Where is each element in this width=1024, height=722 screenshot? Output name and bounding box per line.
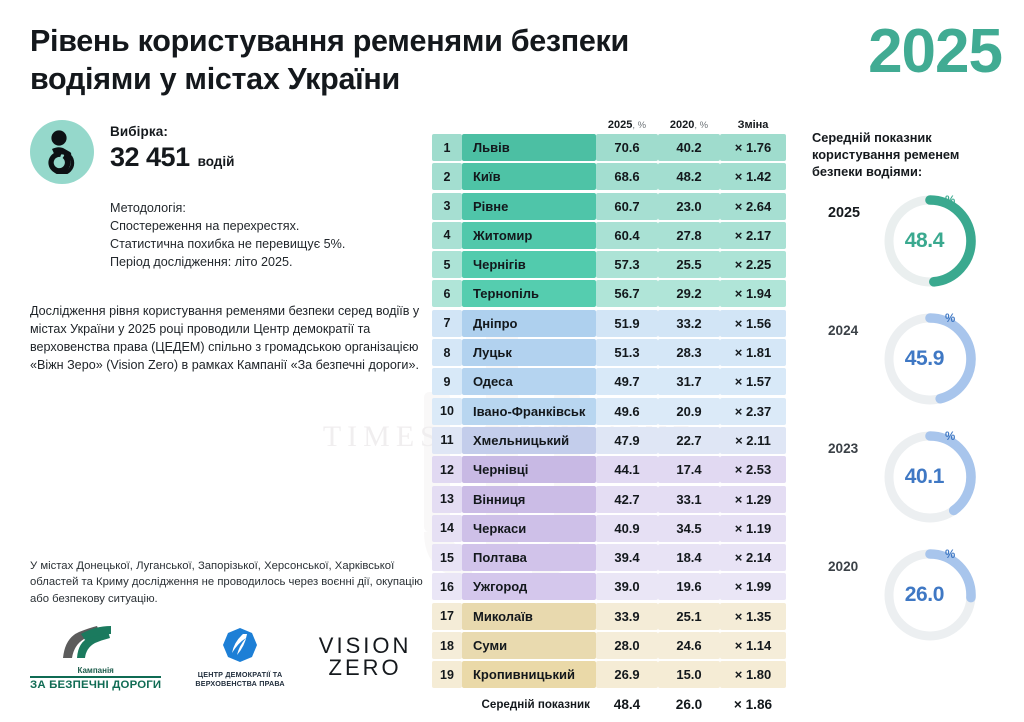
table-row[interactable]: 8Луцьк51.328.3× 1.81 (432, 339, 790, 366)
row-2020: 28.3 (658, 339, 720, 366)
row-change: × 2.11 (720, 427, 786, 454)
row-city: Тернопіль (462, 280, 596, 307)
row-change: × 1.19 (720, 515, 786, 542)
table-body: 1Львів70.640.2× 1.762Київ68.648.2× 1.423… (432, 134, 790, 688)
row-2025: 40.9 (596, 515, 658, 542)
row-change: × 1.56 (720, 310, 786, 337)
row-2025: 44.1 (596, 456, 658, 483)
donut-percent-symbol: % (945, 313, 955, 325)
row-change: × 1.76 (720, 134, 786, 161)
donut-percent-symbol: % (945, 195, 955, 207)
table-row[interactable]: 6Тернопіль56.729.2× 1.94 (432, 280, 790, 307)
donut-2024: 202445.9% (812, 299, 1012, 417)
infographic-page: TIMES OF UKRAINE Рівень користування рем… (0, 0, 1024, 722)
row-city: Хмельницький (462, 427, 596, 454)
row-2025: 33.9 (596, 603, 658, 630)
row-city: Миколаїв (462, 603, 596, 630)
sample-block: Вибірка: 32 451 водій (30, 120, 420, 184)
table-row[interactable]: 14Черкаси40.934.5× 1.19 (432, 515, 790, 542)
row-rank: 1 (432, 134, 462, 161)
row-2020: 33.2 (658, 310, 720, 337)
cedem-logo-line2: ВЕРХОВЕНСТВА ПРАВА (195, 679, 284, 688)
row-2025: 26.9 (596, 661, 658, 688)
cedem-logo-line1: ЦЕНТР ДЕМОКРАТІЇ ТА (195, 670, 284, 679)
cedem-logo: ЦЕНТР ДЕМОКРАТІЇ ТА ВЕРХОВЕНСТВА ПРАВА (195, 626, 284, 689)
row-rank: 9 (432, 368, 462, 395)
row-2025: 60.4 (596, 222, 658, 249)
row-city: Чернігів (462, 251, 596, 278)
donut-2025: 202548.4% (812, 181, 1012, 299)
row-rank: 2 (432, 163, 462, 190)
row-change: × 1.35 (720, 603, 786, 630)
row-2025: 49.6 (596, 398, 658, 425)
row-2020: 48.2 (658, 163, 720, 190)
row-2020: 27.8 (658, 222, 720, 249)
row-2020: 22.7 (658, 427, 720, 454)
row-2020: 20.9 (658, 398, 720, 425)
row-rank: 11 (432, 427, 462, 454)
donut-value-label: 40.1% (878, 425, 982, 529)
donut-year-label: 2024 (828, 323, 858, 338)
table-row[interactable]: 9Одеса49.731.7× 1.57 (432, 368, 790, 395)
th-2020: 2020, % (658, 119, 720, 131)
th-2025: 2025, % (596, 119, 658, 131)
total-change: × 1.86 (720, 691, 786, 717)
table-total-row: Середній показник 48.4 26.0 × 1.86 (432, 691, 790, 717)
table-row[interactable]: 11Хмельницький47.922.7× 2.11 (432, 427, 790, 454)
row-change: × 1.99 (720, 573, 786, 600)
total-2025: 48.4 (596, 691, 658, 717)
donut-percent-symbol: % (945, 431, 955, 443)
row-change: × 1.14 (720, 632, 786, 659)
donut-list: 202548.4%202445.9%202340.1%202026.0% (812, 181, 1012, 653)
row-2025: 70.6 (596, 134, 658, 161)
row-city: Чернівці (462, 456, 596, 483)
row-city: Луцьк (462, 339, 596, 366)
row-2020: 34.5 (658, 515, 720, 542)
row-rank: 4 (432, 222, 462, 249)
row-rank: 10 (432, 398, 462, 425)
row-2025: 39.4 (596, 544, 658, 571)
row-rank: 16 (432, 573, 462, 600)
vision-zero-logo: VISION ZERO (319, 635, 412, 678)
za-bezpechni-dorohy-line2: ЗА БЕЗПЕЧНІ ДОРОГИ (30, 676, 161, 691)
row-change: × 2.25 (720, 251, 786, 278)
donut-2020: 202026.0% (812, 535, 1012, 653)
donut-value-label: 48.4% (878, 189, 982, 293)
row-2025: 49.7 (596, 368, 658, 395)
table-row[interactable]: 1Львів70.640.2× 1.76 (432, 134, 790, 161)
driver-seatbelt-icon (30, 120, 94, 184)
table-row[interactable]: 19Кропивницький26.915.0× 1.80 (432, 661, 790, 688)
row-2025: 51.9 (596, 310, 658, 337)
table-row[interactable]: 5Чернігів57.325.5× 2.25 (432, 251, 790, 278)
table-header-row: 2025, % 2020, % Зміна (432, 112, 790, 134)
row-change: × 2.14 (720, 544, 786, 571)
row-change: × 1.81 (720, 339, 786, 366)
methodology-line-1: Спостереження на перехрестях. (110, 218, 420, 236)
row-2025: 39.0 (596, 573, 658, 600)
row-change: × 1.57 (720, 368, 786, 395)
table-row[interactable]: 18Суми28.024.6× 1.14 (432, 632, 790, 659)
row-2020: 19.6 (658, 573, 720, 600)
row-2020: 18.4 (658, 544, 720, 571)
sample-text: Вибірка: 32 451 водій (110, 120, 234, 173)
row-city: Одеса (462, 368, 596, 395)
total-rank (432, 691, 462, 717)
row-2020: 40.2 (658, 134, 720, 161)
row-2020: 23.0 (658, 193, 720, 220)
methodology-block: Методологія: Спостереження на перехрестя… (110, 200, 420, 272)
row-city: Ужгород (462, 573, 596, 600)
vision-zero-line1: VISION (319, 635, 412, 657)
donut-year-label: 2025 (828, 205, 860, 221)
row-city: Київ (462, 163, 596, 190)
row-city: Дніпро (462, 310, 596, 337)
row-change: × 2.64 (720, 193, 786, 220)
row-rank: 13 (432, 486, 462, 513)
average-panel-title: Середній показник користування ременем б… (812, 130, 1012, 181)
row-2020: 29.2 (658, 280, 720, 307)
methodology-heading: Методологія: (110, 200, 420, 218)
row-2020: 31.7 (658, 368, 720, 395)
donut-ring: 40.1% (878, 425, 982, 529)
table-row[interactable]: 16Ужгород39.019.6× 1.99 (432, 573, 790, 600)
donut-value: 40.1 (905, 465, 944, 489)
cedem-logo-text: ЦЕНТР ДЕМОКРАТІЇ ТА ВЕРХОВЕНСТВА ПРАВА (195, 670, 284, 689)
row-change: × 2.37 (720, 398, 786, 425)
left-column: Вибірка: 32 451 водій Методологія: Спост… (30, 120, 420, 375)
methodology-line-3: Період дослідження: літо 2025. (110, 254, 420, 272)
sample-label: Вибірка: (110, 124, 234, 139)
row-rank: 19 (432, 661, 462, 688)
row-2020: 25.1 (658, 603, 720, 630)
row-rank: 8 (432, 339, 462, 366)
row-rank: 18 (432, 632, 462, 659)
table-row[interactable]: 12Чернівці44.117.4× 2.53 (432, 456, 790, 483)
row-city: Кропивницький (462, 661, 596, 688)
row-change: × 2.17 (720, 222, 786, 249)
row-city: Житомир (462, 222, 596, 249)
vision-zero-line2-text: ZERO (329, 655, 402, 680)
row-rank: 15 (432, 544, 462, 571)
row-rank: 6 (432, 280, 462, 307)
row-city: Івано-Франківськ (462, 398, 596, 425)
row-2025: 56.7 (596, 280, 658, 307)
vision-zero-line2: ZERO (329, 657, 402, 679)
city-ranking-table: 2025, % 2020, % Зміна 1Львів70.640.2× 1.… (432, 112, 790, 717)
row-rank: 14 (432, 515, 462, 542)
donut-2023: 202340.1% (812, 417, 1012, 535)
sample-value: 32 451 (110, 142, 190, 173)
table-row[interactable]: 10Івано-Франківськ49.620.9× 2.37 (432, 398, 790, 425)
row-2020: 25.5 (658, 251, 720, 278)
row-change: × 2.53 (720, 456, 786, 483)
donut-value: 48.4 (905, 229, 944, 253)
donut-percent-symbol: % (945, 549, 955, 561)
th-change: Зміна (720, 119, 786, 131)
row-rank: 7 (432, 310, 462, 337)
logo-strip: Кампанія ЗА БЕЗПЕЧНІ ДОРОГИ ЦЕНТР ДЕМОКР… (30, 622, 430, 692)
donut-value: 26.0 (905, 583, 944, 607)
row-rank: 12 (432, 456, 462, 483)
row-city: Рівне (462, 193, 596, 220)
row-city: Львів (462, 134, 596, 161)
za-bezpechni-dorohy-logo: Кампанія ЗА БЕЗПЕЧНІ ДОРОГИ (30, 624, 161, 691)
research-description: Дослідження рівня користування ременями … (30, 302, 420, 375)
donut-ring: 48.4% (878, 189, 982, 293)
donut-value-label: 45.9% (878, 307, 982, 411)
donut-year-label: 2020 (828, 559, 858, 574)
row-change: × 1.80 (720, 661, 786, 688)
row-change: × 1.94 (720, 280, 786, 307)
row-2025: 42.7 (596, 486, 658, 513)
row-2025: 28.0 (596, 632, 658, 659)
donut-value-label: 26.0% (878, 543, 982, 647)
row-2025: 47.9 (596, 427, 658, 454)
table-row[interactable]: 7Дніпро51.933.2× 1.56 (432, 310, 790, 337)
donut-ring: 45.9% (878, 307, 982, 411)
row-2020: 17.4 (658, 456, 720, 483)
table-row[interactable]: 3Рівне60.723.0× 2.64 (432, 193, 790, 220)
row-city: Суми (462, 632, 596, 659)
row-2025: 60.7 (596, 193, 658, 220)
row-change: × 1.29 (720, 486, 786, 513)
donut-value: 45.9 (905, 347, 944, 371)
row-2020: 15.0 (658, 661, 720, 688)
row-2020: 33.1 (658, 486, 720, 513)
total-label: Середній показник (462, 691, 596, 717)
row-2020: 24.6 (658, 632, 720, 659)
donut-year-label: 2023 (828, 441, 858, 456)
row-rank: 3 (432, 193, 462, 220)
page-title-line2: водіями у містах України (30, 60, 790, 98)
table-row[interactable]: 2Київ68.648.2× 1.42 (432, 163, 790, 190)
za-bezpechni-dorohy-line1: Кампанія (77, 666, 113, 675)
table-row[interactable]: 13Вінниця42.733.1× 1.29 (432, 486, 790, 513)
table-row[interactable]: 15Полтава39.418.4× 2.14 (432, 544, 790, 571)
row-rank: 5 (432, 251, 462, 278)
row-city: Черкаси (462, 515, 596, 542)
table-row[interactable]: 17Миколаїв33.925.1× 1.35 (432, 603, 790, 630)
year-badge: 2025 (868, 16, 1002, 87)
total-2020: 26.0 (658, 691, 720, 717)
row-city: Полтава (462, 544, 596, 571)
row-rank: 17 (432, 603, 462, 630)
donut-ring: 26.0% (878, 543, 982, 647)
sample-unit: водій (198, 154, 235, 169)
row-city: Вінниця (462, 486, 596, 513)
methodology-line-2: Статистична похибка не перевищує 5%. (110, 236, 420, 254)
average-panel: Середній показник користування ременем б… (812, 130, 1012, 653)
row-2025: 57.3 (596, 251, 658, 278)
page-title-line1: Рівень користування ременями безпеки (30, 22, 790, 60)
exclusion-note: У містах Донецької, Луганської, Запорізь… (30, 558, 430, 607)
table-row[interactable]: 4Житомир60.427.8× 2.17 (432, 222, 790, 249)
row-change: × 1.42 (720, 163, 786, 190)
row-2025: 68.6 (596, 163, 658, 190)
row-2025: 51.3 (596, 339, 658, 366)
page-title: Рівень користування ременями безпеки вод… (30, 22, 790, 99)
